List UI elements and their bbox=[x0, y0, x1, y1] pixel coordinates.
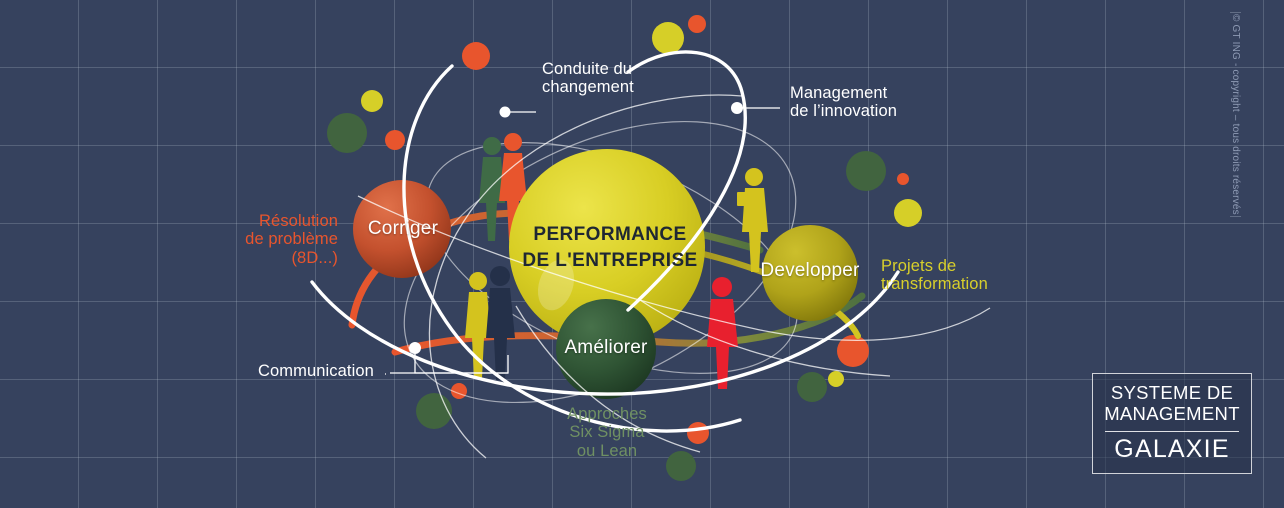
sphere-label-corriger[interactable]: Corriger bbox=[343, 218, 463, 240]
logo-title-top: SYSTEME DE MANAGEMENT bbox=[1103, 383, 1241, 425]
sphere-label-ameliorer[interactable]: Améliorer bbox=[546, 337, 666, 359]
callout-management-innovation: Management de l’innovation bbox=[790, 84, 897, 121]
annotation-resolution-de-probleme: Résolution de problème (8D...) bbox=[186, 212, 338, 267]
annotation-approches-six-sigma: Approches Six Sigma ou Lean bbox=[532, 405, 682, 460]
logo-title-bottom: GALAXIE bbox=[1103, 437, 1241, 462]
sphere-label-developper[interactable]: Developper bbox=[750, 260, 870, 282]
callout-communication: Communication bbox=[258, 362, 374, 380]
logo-divider bbox=[1105, 431, 1239, 432]
figure-yellow-right bbox=[737, 168, 768, 272]
copyright-notice: © GT ING - copyright – tous droits réser… bbox=[1230, 12, 1241, 217]
annotation-projets-transformation: Projets de transformation bbox=[881, 257, 988, 294]
logo-systeme-de-management-galaxie: SYSTEME DE MANAGEMENT GALAXIE bbox=[1092, 373, 1252, 474]
figure-red bbox=[707, 277, 738, 389]
figure-navy bbox=[486, 266, 515, 380]
infographic-canvas: Corriger Améliorer Developper PERFORMANC… bbox=[0, 0, 1284, 508]
center-label-performance: PERFORMANCE DE L'ENTREPRISE bbox=[500, 222, 720, 273]
callout-conduite-du-changement: Conduite du changement bbox=[542, 60, 634, 97]
